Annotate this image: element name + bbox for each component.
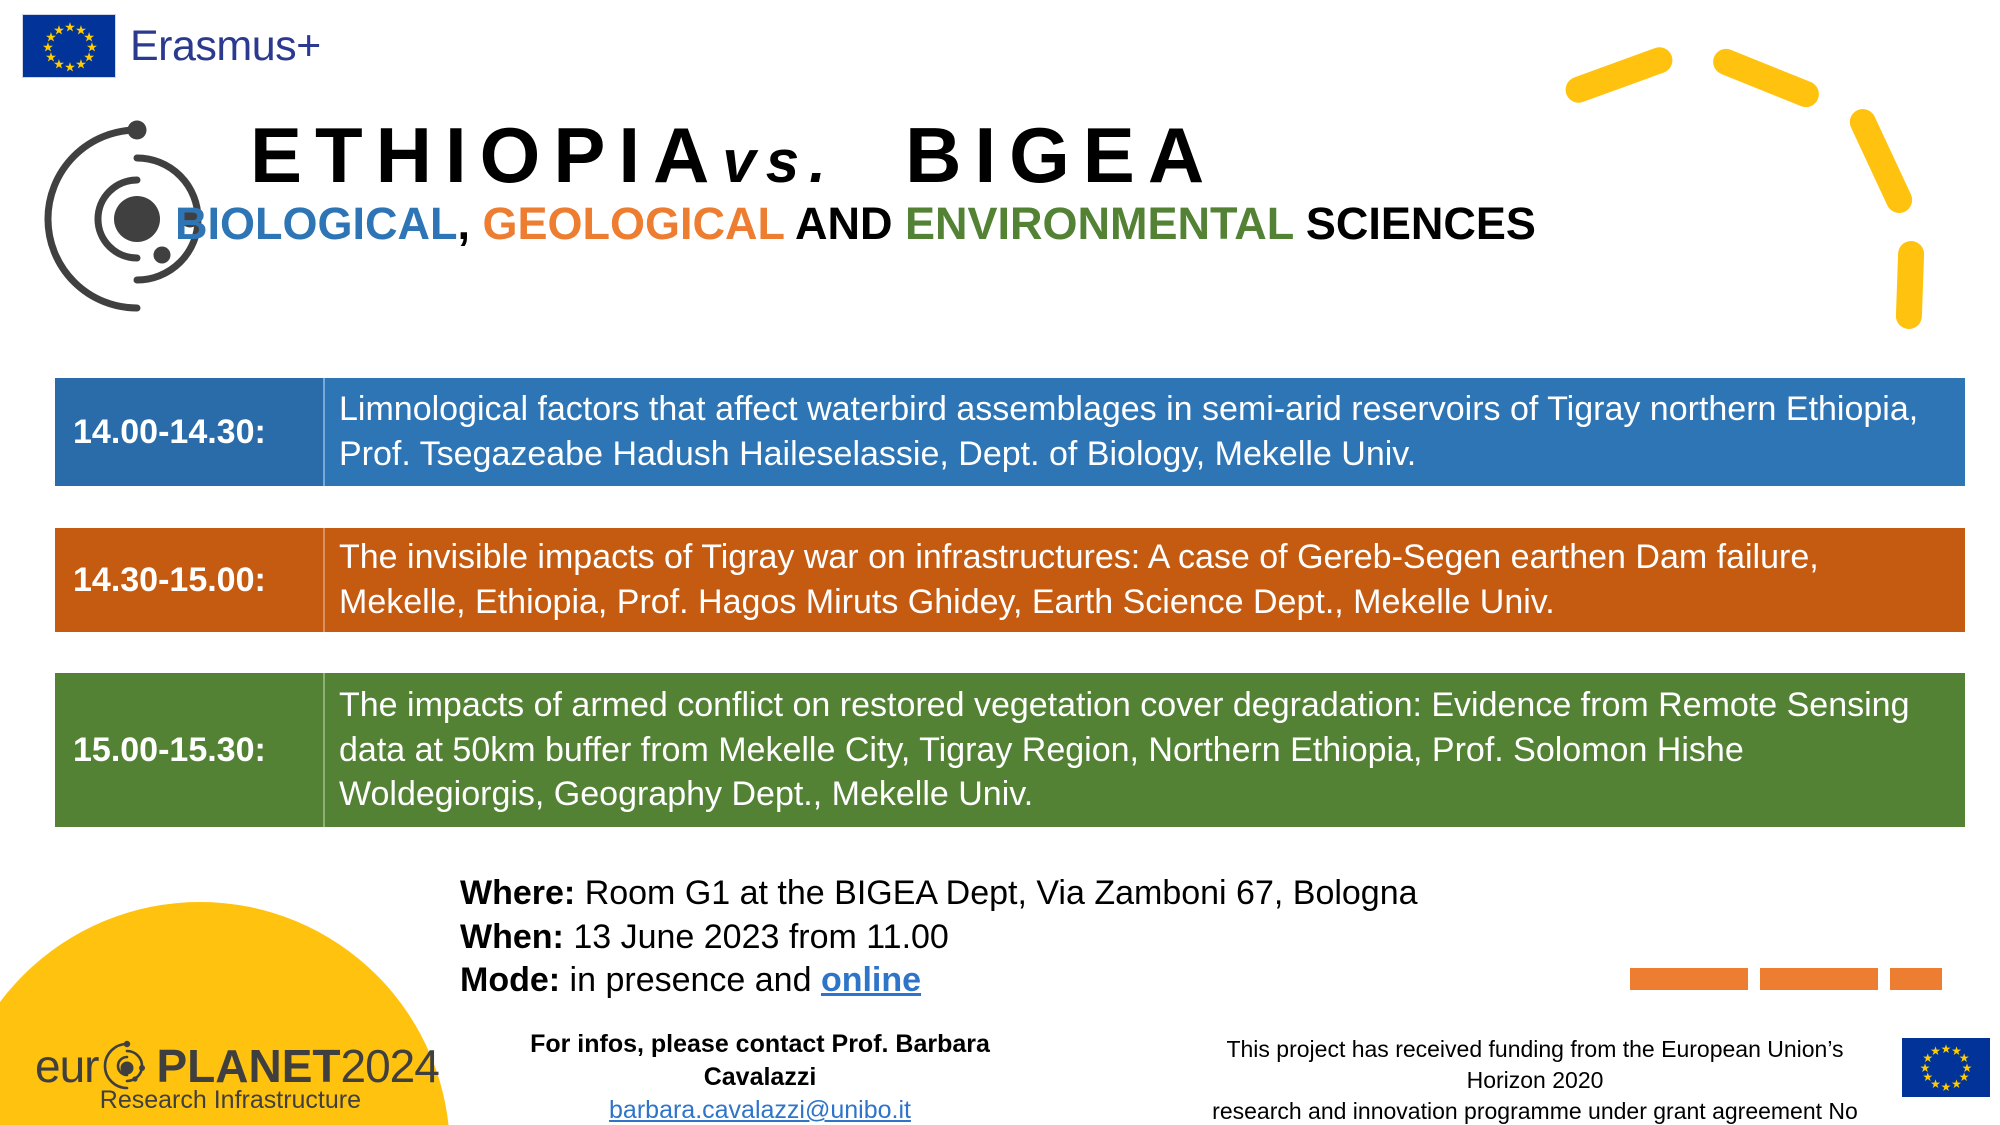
decor-dash-3 (1890, 968, 1942, 990)
mode-value: in presence and (570, 961, 812, 999)
europlanet-logo: eur PLANET 2024 Research Infrastructure (35, 1042, 365, 1114)
funding-line-1: This project has received funding from t… (1190, 1034, 1880, 1096)
subtitle-part-and: AND (784, 198, 892, 249)
decor-arc-1 (1562, 44, 1676, 107)
where-value: Room G1 at the BIGEA Dept, Via Zamboni 6… (585, 874, 1418, 912)
page-subtitle: BIOLOGICAL, GEOLOGICAL AND ENVIRONMENTAL… (175, 198, 1575, 250)
detail-mode: Mode: in presence and online (460, 959, 1418, 1003)
europlanet-year: 2024 (340, 1039, 438, 1093)
schedule-time: 14.00-14.30: (55, 378, 323, 486)
contact-line: For infos, please contact Prof. Barbara … (500, 1028, 1020, 1094)
schedule-time: 15.00-15.30: (55, 673, 323, 827)
title-vs: vs. (722, 128, 835, 195)
decor-dash-2 (1760, 968, 1878, 990)
funding-line-2: research and innovation programme under … (1190, 1096, 1880, 1125)
decor-arc-2 (1709, 45, 1823, 111)
erasmus-label: Erasmus+ (130, 22, 321, 71)
subtitle-part-sciences: SCIENCES (1293, 198, 1536, 249)
schedule-description: The impacts of armed conflict on restore… (323, 673, 1965, 827)
decor-arc-4 (1895, 241, 1924, 330)
decor-dash-1 (1630, 968, 1748, 990)
when-value: 13 June 2023 from 11.00 (573, 918, 949, 956)
contact-block: For infos, please contact Prof. Barbara … (500, 1028, 1020, 1125)
contact-email-link[interactable]: barbara.cavalazzi@unibo.it (609, 1096, 911, 1124)
erasmus-header: ★★★★★★★★★★★★ Erasmus+ (22, 14, 321, 78)
online-link[interactable]: online (821, 961, 921, 999)
event-details: Where: Room G1 at the BIGEA Dept, Via Za… (460, 872, 1418, 1003)
schedule-row: 15.00-15.30: The impacts of armed confli… (55, 673, 1965, 827)
europlanet-planet: PLANET (156, 1039, 340, 1093)
decor-arc-3 (1846, 105, 1917, 217)
title-main-right: BIGEA (905, 111, 1217, 199)
schedule-row: 14.00-14.30: Limnological factors that a… (55, 378, 1965, 486)
subtitle-part-geological: GEOLOGICAL (470, 198, 784, 249)
when-label: When: (460, 918, 564, 956)
poster-canvas: ★★★★★★★★★★★★ Erasmus+ ETHIOPIAvs. BIGEA … (0, 0, 2000, 1125)
funding-statement: This project has received funding from t… (1190, 1034, 1880, 1125)
schedule-description: Limnological factors that affect waterbi… (323, 378, 1965, 486)
europlanet-eur: eur (35, 1039, 98, 1093)
subtitle-part-comma: , (457, 198, 470, 249)
subtitle-part-biological: BIOLOGICAL (175, 198, 457, 249)
title-main-left: ETHIOPIA (250, 111, 722, 199)
page-title: ETHIOPIAvs. BIGEA (250, 115, 1650, 197)
eu-flag-icon: ★★★★★★★★★★★★ (1902, 1038, 1990, 1097)
schedule-time: 14.30-15.00: (55, 528, 323, 632)
detail-where: Where: Room G1 at the BIGEA Dept, Via Za… (460, 872, 1418, 916)
schedule-description: The invisible impacts of Tigray war on i… (323, 528, 1965, 632)
detail-when: When: 13 June 2023 from 11.00 (460, 916, 1418, 960)
subtitle-part-environmental: ENVIRONMENTAL (893, 198, 1294, 249)
where-label: Where: (460, 874, 575, 912)
schedule-row: 14.30-15.00: The invisible impacts of Ti… (55, 528, 1965, 632)
mode-label: Mode: (460, 961, 560, 999)
eu-flag-icon: ★★★★★★★★★★★★ (22, 14, 116, 78)
